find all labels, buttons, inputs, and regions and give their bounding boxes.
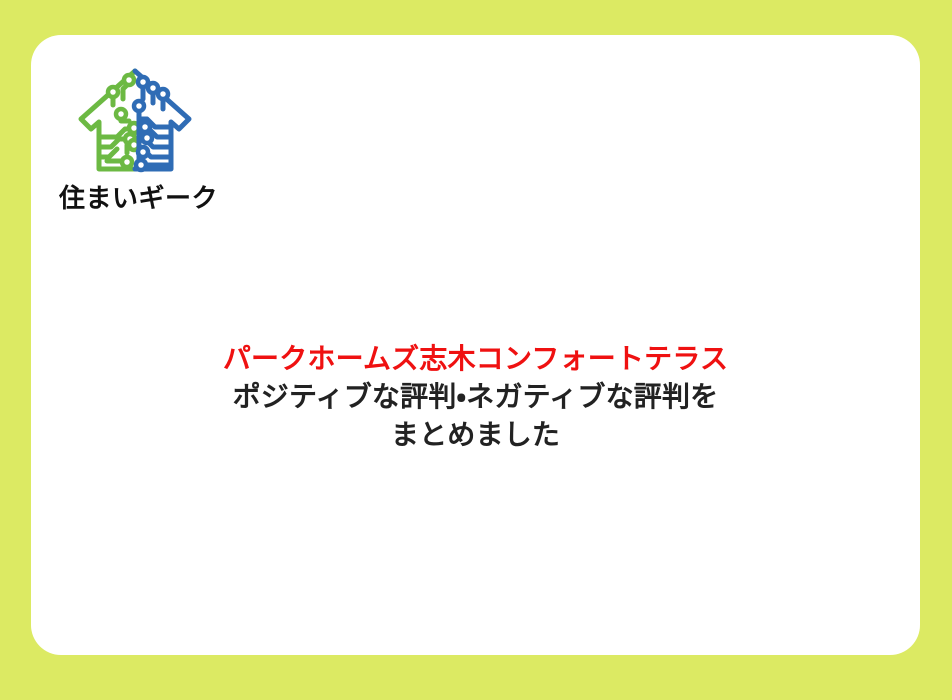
headline-block: パークホームズ志木コンフォートテラス ポジティブな評判・ネガティブな評判を まと… [31,340,920,454]
brand-name: 住まいギーク [55,185,275,214]
slide-canvas: 住まいギーク パークホームズ志木コンフォートテラス ポジティブな評判・ネガティブ… [0,0,952,700]
headline-line-1: パークホームズ志木コンフォートテラス [31,340,920,378]
circuit-house-icon [77,65,197,177]
brand-block: 住まいギーク [55,65,275,214]
headline-line-3: まとめました [31,416,920,454]
content-card: 住まいギーク パークホームズ志木コンフォートテラス ポジティブな評判・ネガティブ… [31,35,920,655]
headline-line-2: ポジティブな評判・ネガティブな評判を [31,378,920,416]
